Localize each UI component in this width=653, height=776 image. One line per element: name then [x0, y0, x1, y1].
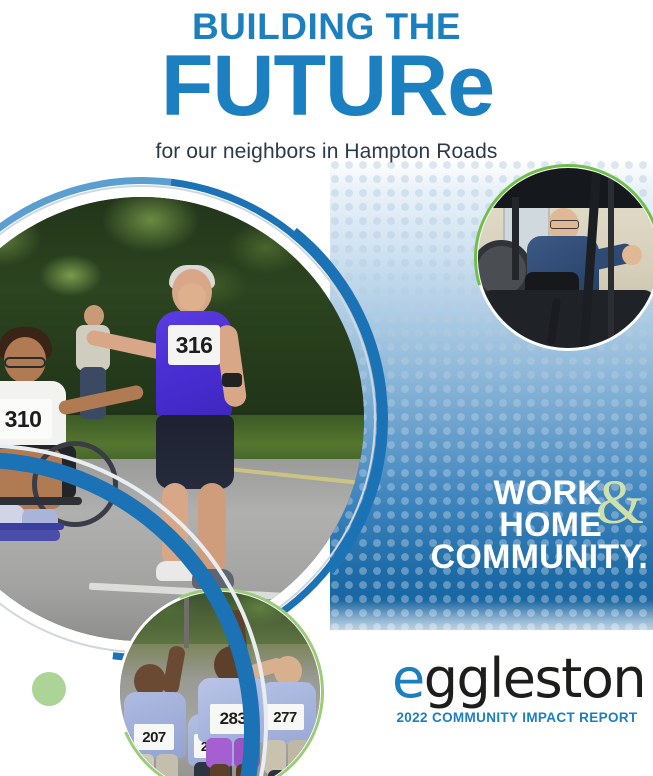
photo-forklift-operator	[478, 168, 653, 348]
logo-e-mark: e	[392, 647, 424, 710]
forklift-overhead-guard	[478, 168, 653, 208]
forklift-mast-secondary	[608, 168, 614, 348]
logo-report-tagline: 2022 COMMUNITY IMPACT REPORT	[392, 710, 642, 725]
walker-207-leg-right	[156, 754, 178, 776]
tagline-block: & WORK HOME COMMUNITY.	[386, 478, 648, 574]
green-accent-dot	[32, 672, 66, 706]
forklift-support-post	[512, 197, 519, 280]
logo-wordmark: eggleston	[392, 652, 642, 706]
walker-283-leg-left	[210, 764, 230, 776]
walker-277-shorts-right	[288, 740, 310, 774]
street-pole	[184, 596, 189, 648]
panel-bottom-fade	[330, 600, 653, 646]
tagline-line-community: COMMUNITY.	[386, 542, 648, 574]
walker-277-shorts-left	[264, 740, 286, 774]
header-title-main: FUTUR	[161, 38, 447, 134]
walker-207-bib: 207	[134, 724, 174, 750]
operator-hand	[622, 245, 642, 265]
photo-5k-walkers: 207 278 283 277	[120, 592, 320, 776]
walker-277-leg-right	[290, 770, 308, 776]
forklift-chassis	[482, 290, 653, 348]
walker-207-leg-left	[132, 754, 154, 776]
operator-glasses	[550, 220, 579, 229]
eggleston-logo: eggleston 2022 COMMUNITY IMPACT REPORT	[392, 652, 642, 725]
walker-277: 277	[256, 640, 318, 776]
logo-word-rest: ggleston	[424, 647, 645, 710]
walker-207: 207	[122, 642, 194, 776]
walker-283-bib: 283	[210, 704, 256, 734]
walker-207-raised-arm	[162, 645, 186, 695]
cover-header: BUILDING THE FUTURe for our neighbors in…	[0, 0, 653, 170]
walker-283-leg-right	[236, 764, 256, 776]
walker-277-bib: 277	[266, 704, 304, 730]
walker-277-leg-left	[268, 770, 286, 776]
header-title: FUTURe	[0, 47, 653, 126]
header-subtitle: for our neighbors in Hampton Roads	[0, 140, 653, 164]
header-title-brand-e: e	[447, 38, 492, 134]
report-cover: 310 316	[0, 0, 653, 776]
